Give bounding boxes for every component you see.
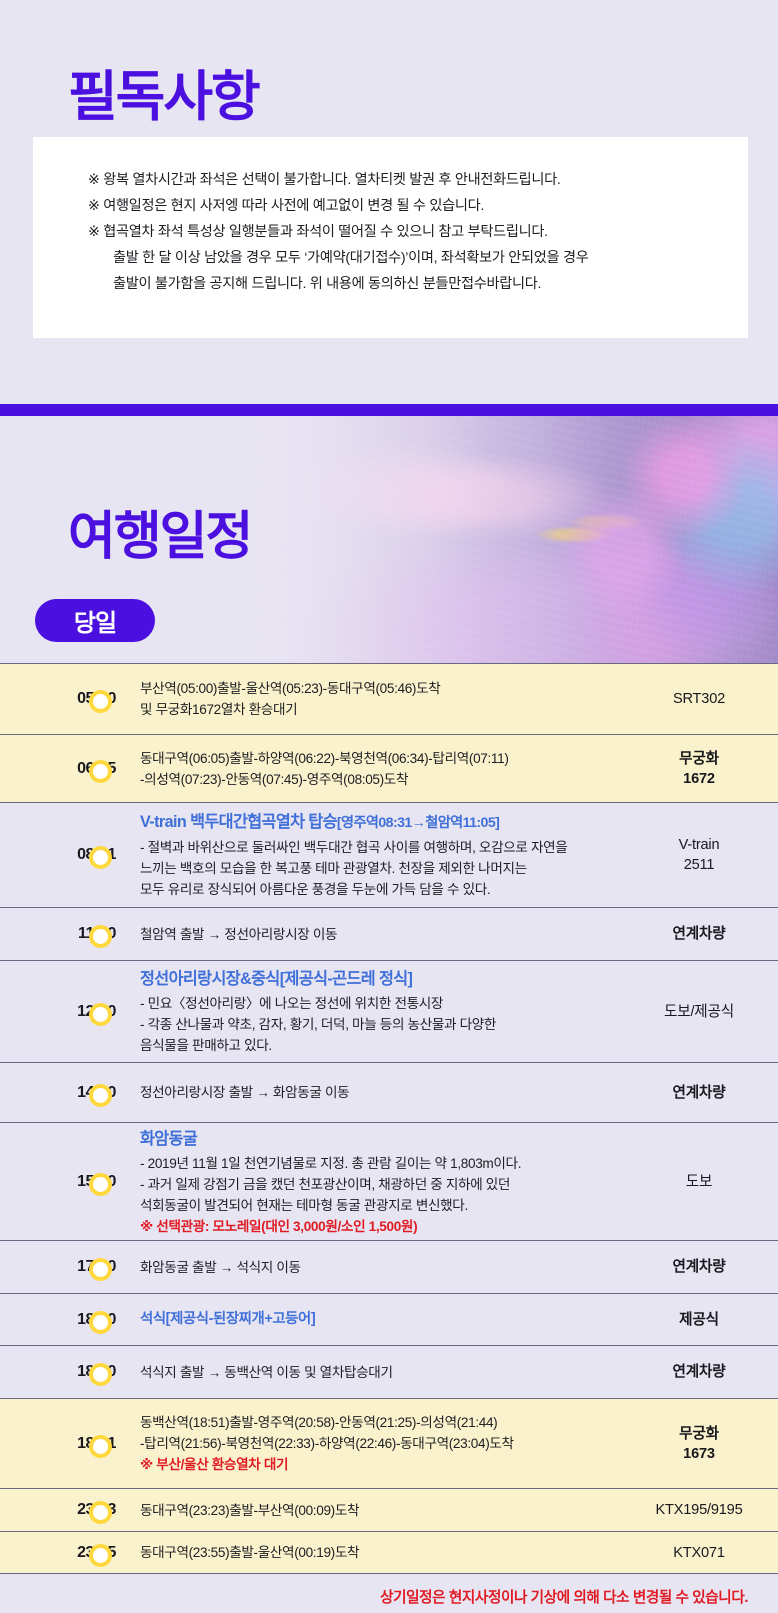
itinerary-row: 14:40정선아리랑시장 출발 → 화암동굴 이동연계차량 — [0, 1063, 778, 1123]
row-text-line: 동대구역(06:05)출발-하양역(06:22)-북영천역(06:34)-탑리역… — [140, 748, 618, 769]
row-description: 동대구역(23:23)출발-부산역(00:09)도착 — [132, 1500, 626, 1521]
row-vehicle: 무궁화1673 — [626, 1424, 778, 1464]
timeline-dot-icon — [89, 1258, 112, 1281]
itinerary-row: 23:55동대구역(23:55)출발-울산역(00:19)도착KTX071 — [0, 1532, 778, 1574]
row-vehicle-line: 연계차량 — [626, 924, 772, 944]
row-heading: 정선아리랑시장&중식[제공식-곤드레 정식] — [140, 967, 618, 992]
row-text-line: 정선아리랑시장 출발 → 화암동굴 이동 — [140, 1082, 618, 1103]
itinerary-row: 17:00화암동굴 출발 → 석식지 이동연계차량 — [0, 1241, 778, 1294]
hero-section: 여행일정 당일 — [0, 416, 778, 663]
row-text-line: 동대구역(23:55)출발-울산역(00:19)도착 — [140, 1542, 618, 1563]
row-vehicle-line: 연계차량 — [626, 1362, 772, 1382]
timeline-dot-icon — [89, 1084, 112, 1107]
row-text-line: 모두 유리로 장식되어 아름다운 풍경을 두눈에 가득 담을 수 있다. — [140, 879, 618, 900]
row-vehicle-line: 제공식 — [626, 1310, 772, 1330]
footnote-row: 상기일정은 현지사정이나 기상에 의해 다소 변경될 수 있습니다. — [0, 1574, 778, 1613]
row-text-line: 부산역(05:00)출발-울산역(05:23)-동대구역(05:46)도착 — [140, 678, 618, 699]
row-time: 18:50 — [0, 1363, 132, 1381]
itinerary-rows: 05:00부산역(05:00)출발-울산역(05:23)-동대구역(05:46)… — [0, 663, 778, 1574]
row-description: 화암동굴 출발 → 석식지 이동 — [132, 1257, 626, 1278]
row-vehicle-line: 도보/제공식 — [626, 1002, 772, 1022]
row-text-line: 석회동굴이 발견되어 현재는 테마형 동굴 관광지로 변신했다. — [140, 1195, 618, 1216]
row-vehicle-line: 무궁화 — [626, 749, 772, 769]
row-note-line: ※ 선택관광: 모노레일(대인 3,000원/소인 1,500원) — [140, 1216, 618, 1237]
timeline-dot-icon — [89, 1544, 112, 1567]
row-vehicle: 연계차량 — [626, 924, 778, 944]
row-note-line: ※ 부산/울산 환승열차 대기 — [140, 1454, 618, 1475]
row-vehicle-line: 2511 — [626, 855, 772, 875]
row-vehicle: 연계차량 — [626, 1257, 778, 1277]
row-heading-main: 정선아리랑시장&중식[제공식-곤드레 정식] — [140, 970, 412, 988]
row-description: 석식[제공식-된장찌개+고등어] — [132, 1309, 626, 1330]
row-time: 05:00 — [0, 690, 132, 708]
row-time: 11:20 — [0, 925, 132, 943]
row-vehicle-line: 연계차량 — [626, 1257, 772, 1277]
timeline-dot-icon — [89, 690, 112, 713]
row-text-line: 동백산역(18:51)출발-영주역(20:58)-안동역(21:25)-의성역(… — [140, 1412, 618, 1433]
itinerary-row: 11:20철암역 출발 → 정선아리랑시장 이동연계차량 — [0, 908, 778, 961]
row-vehicle: KTX071 — [626, 1543, 778, 1563]
row-vehicle: 도보 — [626, 1172, 778, 1192]
row-time: 23:23 — [0, 1501, 132, 1519]
row-text-line: 동대구역(23:23)출발-부산역(00:09)도착 — [140, 1500, 618, 1521]
row-vehicle: 무궁화1672 — [626, 749, 778, 789]
row-heading-main: 화암동굴 — [140, 1130, 197, 1148]
row-description: 화암동굴- 2019년 11월 1일 천연기념물로 지정. 총 관람 길이는 약… — [132, 1127, 626, 1237]
timeline-dot-icon — [89, 1435, 112, 1458]
itinerary-row: 18:51동백산역(18:51)출발-영주역(20:58)-안동역(21:25)… — [0, 1399, 778, 1489]
row-vehicle-line: 1672 — [626, 769, 772, 789]
notice-line: ※ 왕복 열차시간과 좌석은 선택이 불가합니다. 열차티켓 발권 후 안내전화… — [88, 167, 728, 193]
row-vehicle: 제공식 — [626, 1310, 778, 1330]
notice-line: ※ 여행일정은 현지 사저엥 따라 사전에 예고없이 변경 될 수 있습니다. — [88, 193, 728, 219]
row-vehicle-line: KTX071 — [626, 1543, 772, 1563]
row-vehicle-line: 1673 — [626, 1444, 772, 1464]
row-heading-sub: [영주역08:31→철암역11:05] — [337, 815, 499, 831]
timeline-dot-icon — [89, 1003, 112, 1026]
row-time: 14:40 — [0, 1084, 132, 1102]
itinerary-footnote: 상기일정은 현지사정이나 기상에 의해 다소 변경될 수 있습니다. — [380, 1586, 748, 1607]
row-vehicle: 연계차량 — [626, 1083, 778, 1103]
notice-line: 출발이 불가함을 공지해 드립니다. 위 내용에 동의하신 분들만접수바랍니다. — [88, 271, 728, 297]
row-vehicle: 연계차량 — [626, 1362, 778, 1382]
row-time: 06:05 — [0, 760, 132, 778]
row-heading: 화암동굴 — [140, 1127, 618, 1152]
row-text-line: 석식[제공식-된장찌개+고등어] — [140, 1309, 618, 1330]
itinerary-page: 필독사항 ※ 왕복 열차시간과 좌석은 선택이 불가합니다. 열차티켓 발권 후… — [0, 0, 778, 1613]
row-description: 철암역 출발 → 정선아리랑시장 이동 — [132, 924, 626, 945]
row-description: 정선아리랑시장&중식[제공식-곤드레 정식]- 민요〈정선아리랑〉에 나오는 정… — [132, 967, 626, 1056]
row-vehicle-line: KTX195/9195 — [626, 1500, 772, 1520]
row-text-line: 석식지 출발 → 동백산역 이동 및 열차탑승대기 — [140, 1362, 618, 1383]
row-vehicle: 도보/제공식 — [626, 1002, 778, 1022]
row-text-line: 화암동굴 출발 → 석식지 이동 — [140, 1257, 618, 1278]
row-text-line: -탑리역(21:56)-북영천역(22:33)-하양역(22:46)-동대구역(… — [140, 1433, 618, 1454]
row-text-line: 및 무궁화1672열차 환승대기 — [140, 699, 618, 720]
timeline-dot-icon — [89, 1173, 112, 1196]
timeline-dot-icon — [89, 1311, 112, 1334]
notice-section: 필독사항 ※ 왕복 열차시간과 좌석은 선택이 불가합니다. 열차티켓 발권 후… — [0, 0, 778, 404]
itinerary-row: 05:00부산역(05:00)출발-울산역(05:23)-동대구역(05:46)… — [0, 663, 778, 735]
row-description: 동대구역(23:55)출발-울산역(00:19)도착 — [132, 1542, 626, 1563]
row-text-line: 음식물을 판매하고 있다. — [140, 1035, 618, 1056]
row-time: 17:00 — [0, 1258, 132, 1276]
row-heading: V-train 백두대간협곡열차 탑승[영주역08:31→철암역11:05] — [140, 810, 618, 836]
row-vehicle-line: 도보 — [626, 1172, 772, 1192]
row-time: 18:51 — [0, 1435, 132, 1453]
row-description: 정선아리랑시장 출발 → 화암동굴 이동 — [132, 1082, 626, 1103]
timeline-dot-icon — [89, 760, 112, 783]
timeline-dot-icon — [89, 925, 112, 948]
row-text-line: - 2019년 11월 1일 천연기념물로 지정. 총 관람 길이는 약 1,8… — [140, 1153, 618, 1174]
timeline-dot-icon — [89, 1501, 112, 1524]
row-description: 동백산역(18:51)출발-영주역(20:58)-안동역(21:25)-의성역(… — [132, 1412, 626, 1475]
itinerary-row: 08:31V-train 백두대간협곡열차 탑승[영주역08:31→철암역11:… — [0, 803, 778, 908]
row-time: 08:31 — [0, 846, 132, 864]
row-heading-main: V-train 백두대간협곡열차 탑승 — [140, 813, 337, 831]
timeline-dot-icon — [89, 846, 112, 869]
itinerary-row: 06:05동대구역(06:05)출발-하양역(06:22)-북영천역(06:34… — [0, 735, 778, 803]
row-description: V-train 백두대간협곡열차 탑승[영주역08:31→철암역11:05]- … — [132, 810, 626, 900]
row-text-line: - 절벽과 바위산으로 둘러싸인 백두대간 협곡 사이를 여행하며, 오감으로 … — [140, 837, 618, 858]
row-vehicle: V-train2511 — [626, 835, 778, 875]
timeline-dot-icon — [89, 1363, 112, 1386]
row-vehicle-line: 무궁화 — [626, 1424, 772, 1444]
itinerary-row: 18:10석식[제공식-된장찌개+고등어]제공식 — [0, 1294, 778, 1346]
notice-list: ※ 왕복 열차시간과 좌석은 선택이 불가합니다. 열차티켓 발권 후 안내전화… — [88, 167, 728, 297]
row-vehicle-line: SRT302 — [626, 689, 772, 709]
itinerary-row: 18:50석식지 출발 → 동백산역 이동 및 열차탑승대기연계차량 — [0, 1346, 778, 1399]
row-vehicle: KTX195/9195 — [626, 1500, 778, 1520]
row-time: 18:10 — [0, 1311, 132, 1329]
itinerary-timeline: 05:00부산역(05:00)출발-울산역(05:23)-동대구역(05:46)… — [0, 663, 778, 1613]
itinerary-row: 12:40정선아리랑시장&중식[제공식-곤드레 정식]- 민요〈정선아리랑〉에 … — [0, 961, 778, 1063]
row-time: 12:40 — [0, 1003, 132, 1021]
itinerary-row: 15:10화암동굴- 2019년 11월 1일 천연기념물로 지정. 총 관람 … — [0, 1123, 778, 1241]
notice-line: 출발 한 달 이상 남았을 경우 모두 ‘가예약(대기접수)’이며, 좌석확보가… — [88, 245, 728, 271]
row-time: 23:55 — [0, 1544, 132, 1562]
hero-title: 여행일정 — [68, 511, 251, 563]
row-text-line: - 과거 일제 강점기 금을 캤던 천포광산이며, 채광하던 중 지하에 있던 — [140, 1174, 618, 1195]
row-description: 석식지 출발 → 동백산역 이동 및 열차탑승대기 — [132, 1362, 626, 1383]
notice-line: ※ 협곡열차 좌석 특성상 일행분들과 좌석이 떨어질 수 있으니 참고 부탁드… — [88, 219, 728, 245]
row-description: 동대구역(06:05)출발-하양역(06:22)-북영천역(06:34)-탑리역… — [132, 748, 626, 790]
day-type-badge[interactable]: 당일 — [35, 599, 155, 642]
row-text-line: - 민요〈정선아리랑〉에 나오는 정선에 위치한 전통시장 — [140, 993, 618, 1014]
row-vehicle: SRT302 — [626, 689, 778, 709]
notice-box: ※ 왕복 열차시간과 좌석은 선택이 불가합니다. 열차티켓 발권 후 안내전화… — [33, 137, 748, 338]
itinerary-row: 23:23동대구역(23:23)출발-부산역(00:09)도착KTX195/91… — [0, 1489, 778, 1532]
row-text-line: -의성역(07:23)-안동역(07:45)-영주역(08:05)도착 — [140, 769, 618, 790]
row-time: 15:10 — [0, 1173, 132, 1191]
row-text-line: 철암역 출발 → 정선아리랑시장 이동 — [140, 924, 618, 945]
row-vehicle-line: 연계차량 — [626, 1083, 772, 1103]
row-vehicle-line: V-train — [626, 835, 772, 855]
row-text-line: 느끼는 백호의 모습을 한 복고풍 테마 관광열차. 천장을 제외한 나머지는 — [140, 858, 618, 879]
purple-divider-top — [0, 404, 778, 416]
notice-title: 필독사항 — [68, 70, 259, 124]
row-text-line: - 각종 산나물과 약초, 감자, 황기, 더덕, 마늘 등의 농산물과 다양한 — [140, 1014, 618, 1035]
row-description: 부산역(05:00)출발-울산역(05:23)-동대구역(05:46)도착및 무… — [132, 678, 626, 720]
